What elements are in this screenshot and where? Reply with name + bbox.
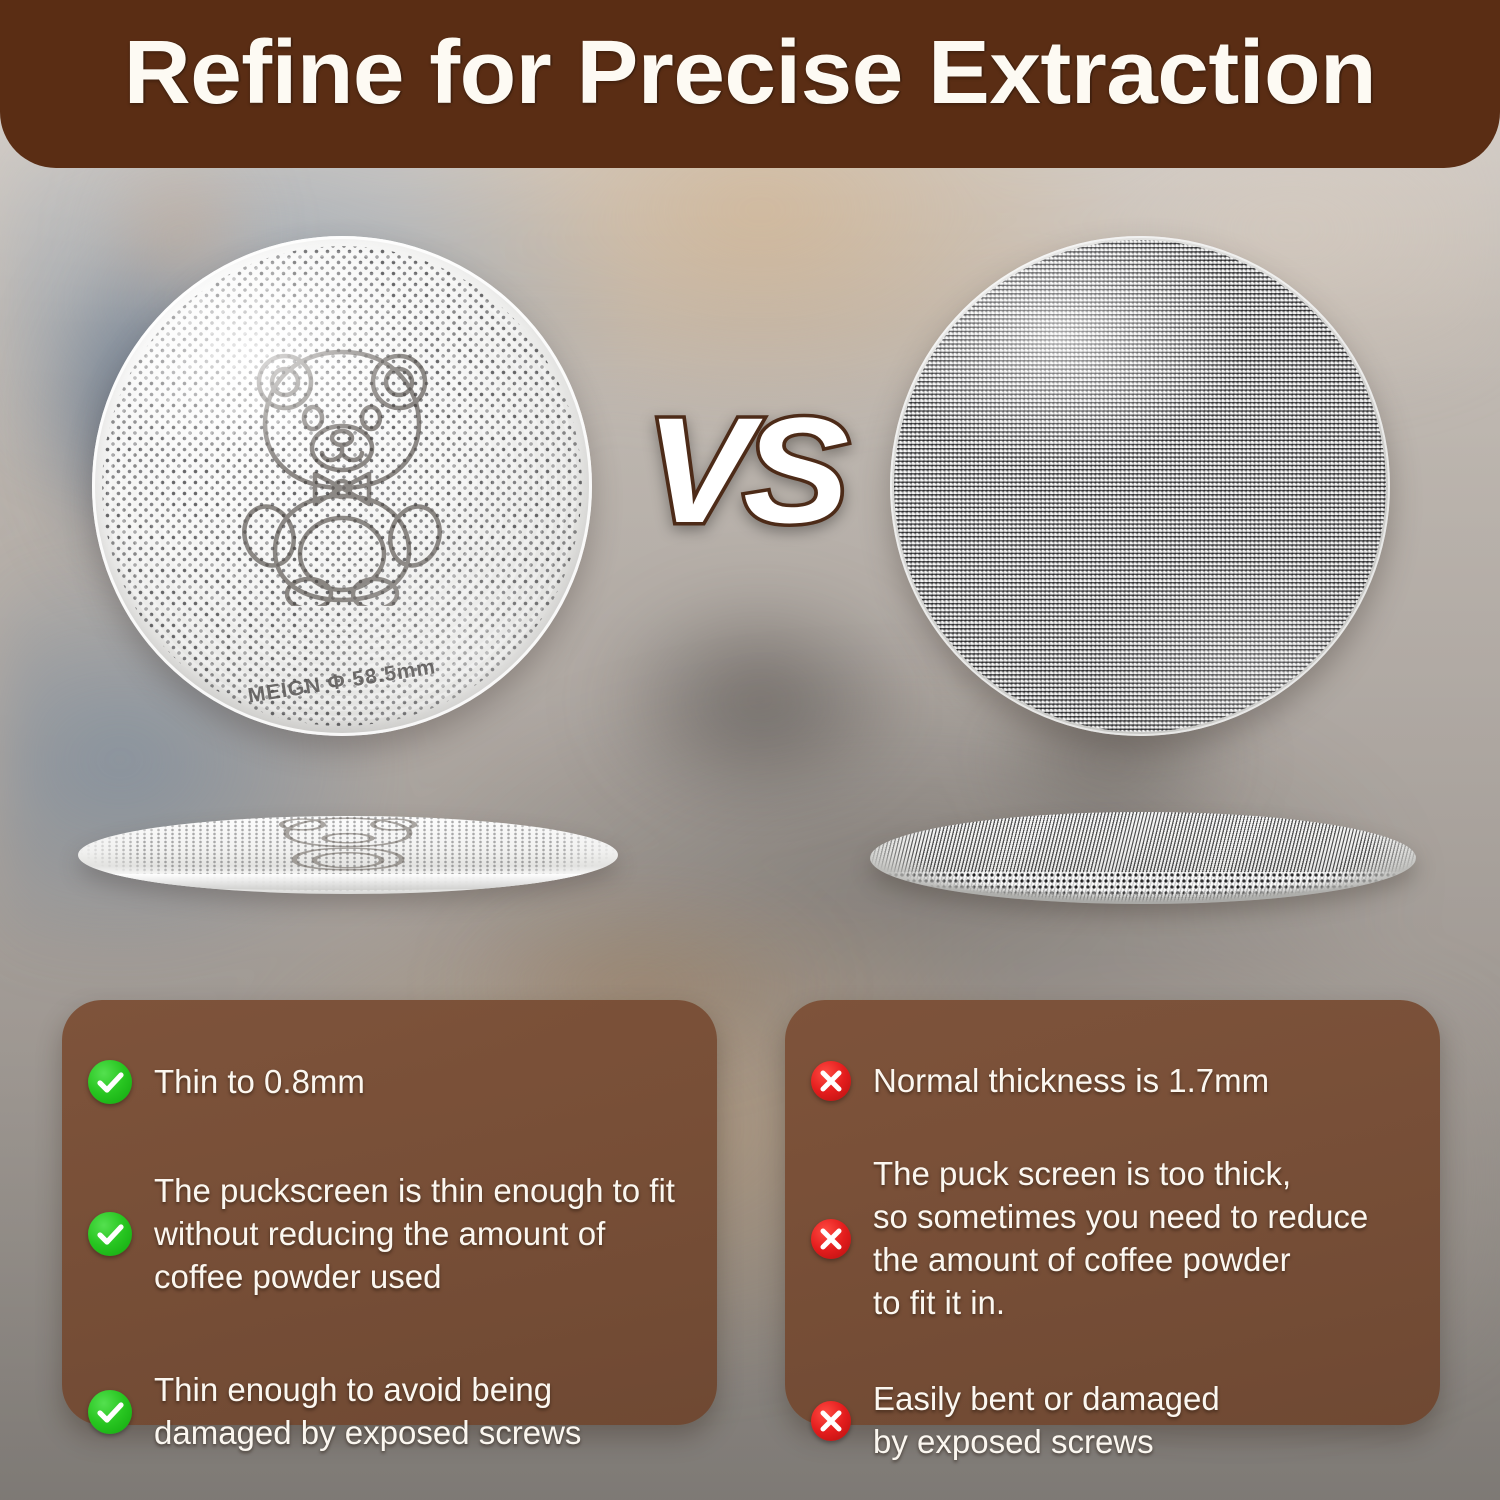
meign-puck-screen-front: MEIGN Φ 58.5mm xyxy=(92,236,592,736)
x-circle-icon xyxy=(811,1061,851,1101)
cons-item-text: Easily bent or damaged by exposed screws xyxy=(873,1378,1220,1464)
list-item: The puckscreen is thin enough to fit wit… xyxy=(88,1170,687,1299)
pros-card: Thin to 0.8mm The puckscreen is thin eno… xyxy=(62,1000,717,1425)
list-item: The puck screen is too thick, so sometim… xyxy=(811,1153,1410,1325)
title-banner: Refine for Precise Extraction xyxy=(0,0,1500,168)
cons-card: Normal thickness is 1.7mm The puck scree… xyxy=(785,1000,1440,1425)
meign-puck-screen-profile xyxy=(78,816,618,894)
list-item: Thin to 0.8mm xyxy=(88,1060,687,1104)
list-item: Normal thickness is 1.7mm xyxy=(811,1060,1410,1103)
product-comparison-infographic: Refine for Precise Extraction xyxy=(0,0,1500,1500)
vs-badge: VS xyxy=(645,395,840,545)
bear-engraving-icon xyxy=(217,336,467,606)
x-circle-icon xyxy=(811,1219,851,1259)
cons-item-text: The puck screen is too thick, so sometim… xyxy=(873,1153,1368,1325)
profile-edge-rim-left xyxy=(78,874,618,890)
profile-bear-engraving-icon xyxy=(248,816,448,872)
list-item: Easily bent or damaged by exposed screws xyxy=(811,1378,1410,1464)
ordinary-mesh-screen-front xyxy=(890,236,1390,736)
pros-item-text: Thin to 0.8mm xyxy=(154,1061,365,1104)
check-circle-icon xyxy=(88,1390,132,1434)
pros-item-text: The puckscreen is thin enough to fit wit… xyxy=(154,1170,675,1299)
list-item: Thin enough to avoid being damaged by ex… xyxy=(88,1369,687,1455)
profile-edge-rim-right xyxy=(881,872,1405,898)
check-circle-icon xyxy=(88,1212,132,1256)
page-title: Refine for Precise Extraction xyxy=(124,28,1376,118)
wire-weave-knots xyxy=(894,240,1386,732)
pros-item-text: Thin enough to avoid being damaged by ex… xyxy=(154,1369,581,1455)
cons-item-text: Normal thickness is 1.7mm xyxy=(873,1060,1269,1103)
x-circle-icon xyxy=(811,1401,851,1441)
ordinary-mesh-screen-profile xyxy=(870,812,1416,904)
check-circle-icon xyxy=(88,1060,132,1104)
